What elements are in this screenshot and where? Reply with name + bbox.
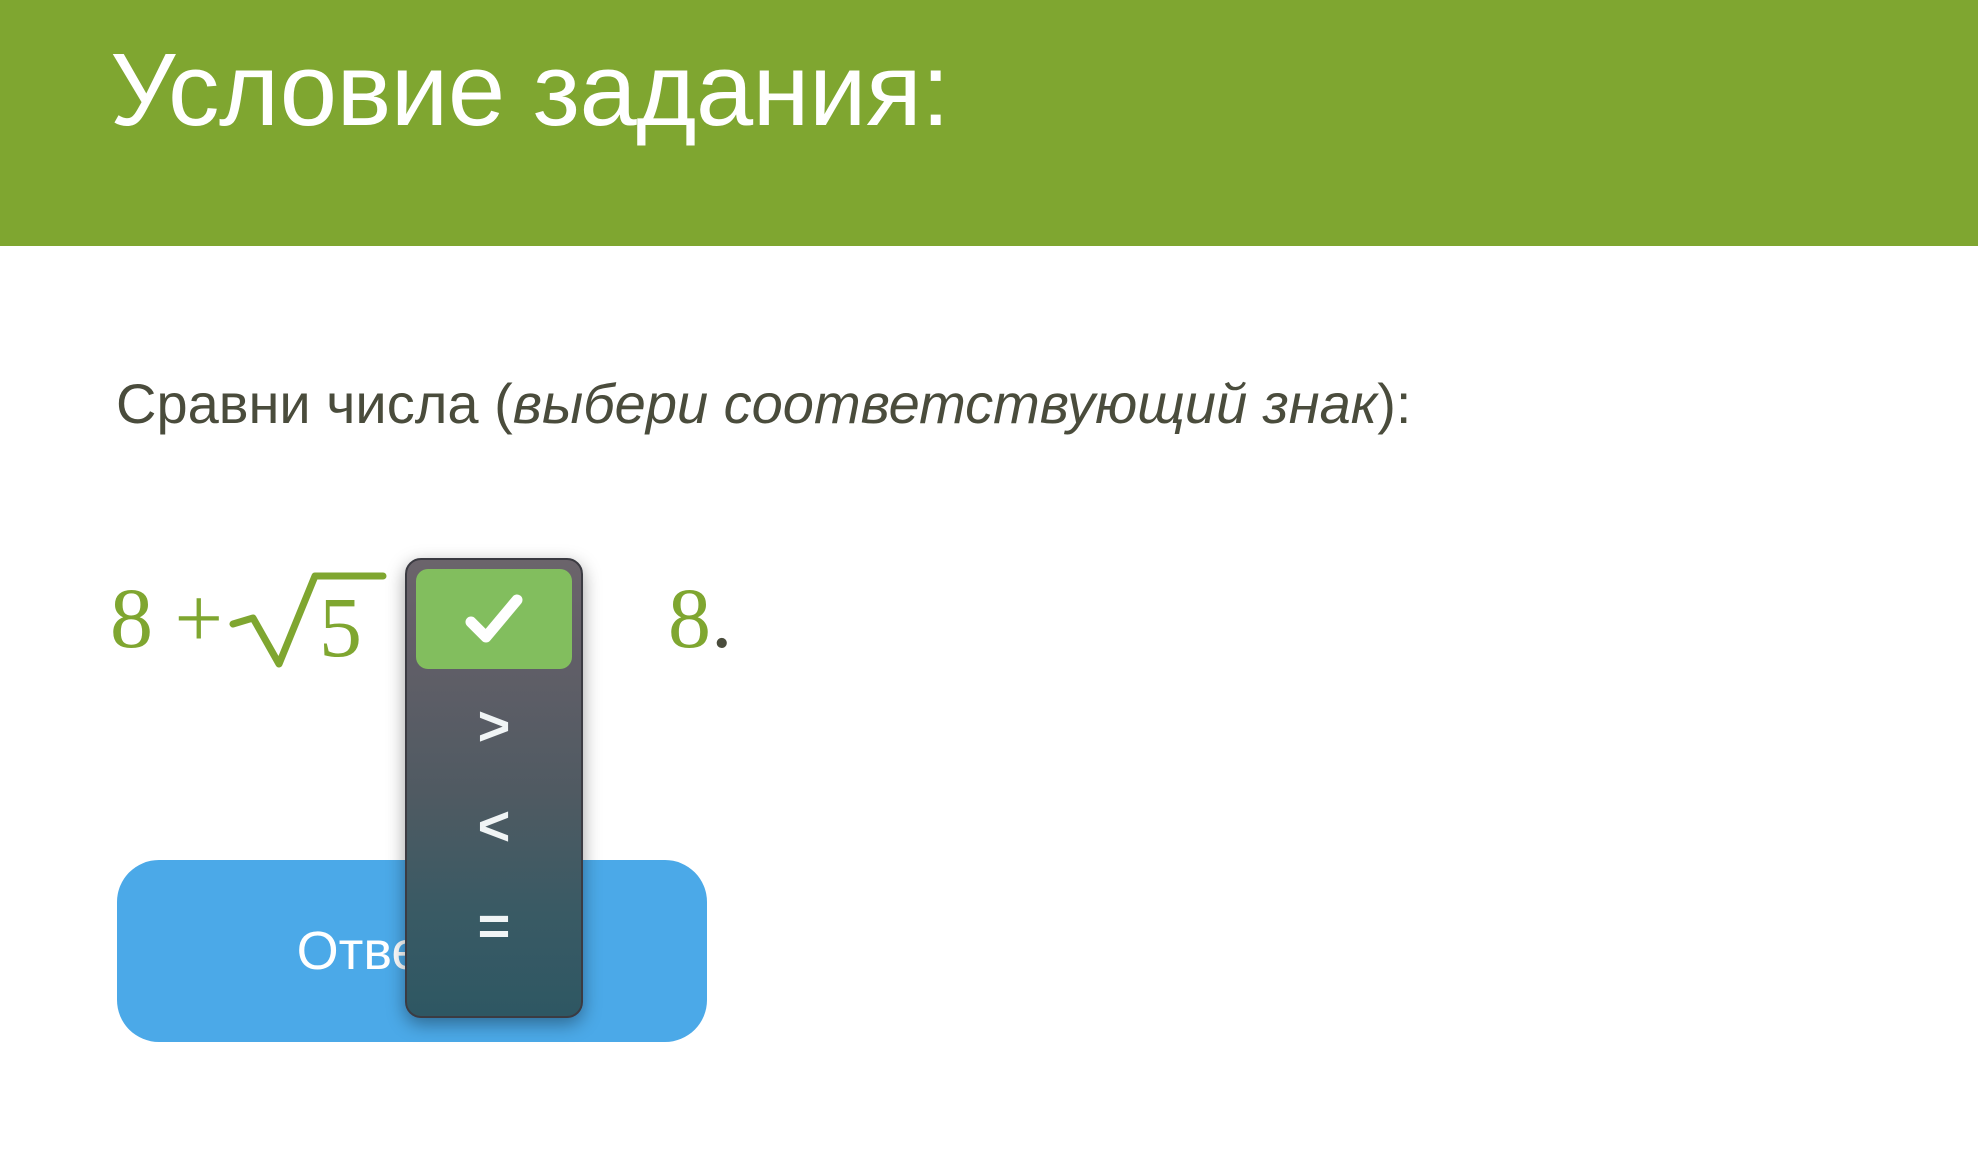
header-banner: Условие задания: [0, 0, 1978, 246]
question-prompt-suffix: ): [1377, 372, 1411, 435]
expression-left-operand: 8 + [110, 568, 223, 668]
dropdown-option-greater-than[interactable]: > [416, 675, 572, 775]
question-prompt-emphasis: выбери соответствующий знак [513, 372, 1377, 435]
question-prompt: Сравни числа (выбери соответствующий зна… [116, 376, 1411, 432]
comparison-sign-dropdown[interactable]: > < = [405, 558, 583, 1018]
math-expression-left: 8 + 5 [110, 568, 387, 678]
dropdown-option-equals[interactable]: = [416, 875, 572, 975]
checkmark-icon [459, 584, 529, 654]
dropdown-option-less-than[interactable]: < [416, 775, 572, 875]
question-prompt-prefix: Сравни числа ( [116, 372, 513, 435]
page-title: Условие задания: [110, 38, 949, 141]
radicand-value: 5 [319, 579, 362, 672]
math-expression-right: 8. [668, 568, 733, 668]
square-root-group: 5 [223, 568, 387, 672]
expression-period: . [711, 570, 733, 666]
dropdown-option-blank-selected[interactable] [416, 569, 572, 669]
expression-right-operand: 8 [668, 570, 711, 666]
square-root-icon: 5 [227, 568, 387, 672]
